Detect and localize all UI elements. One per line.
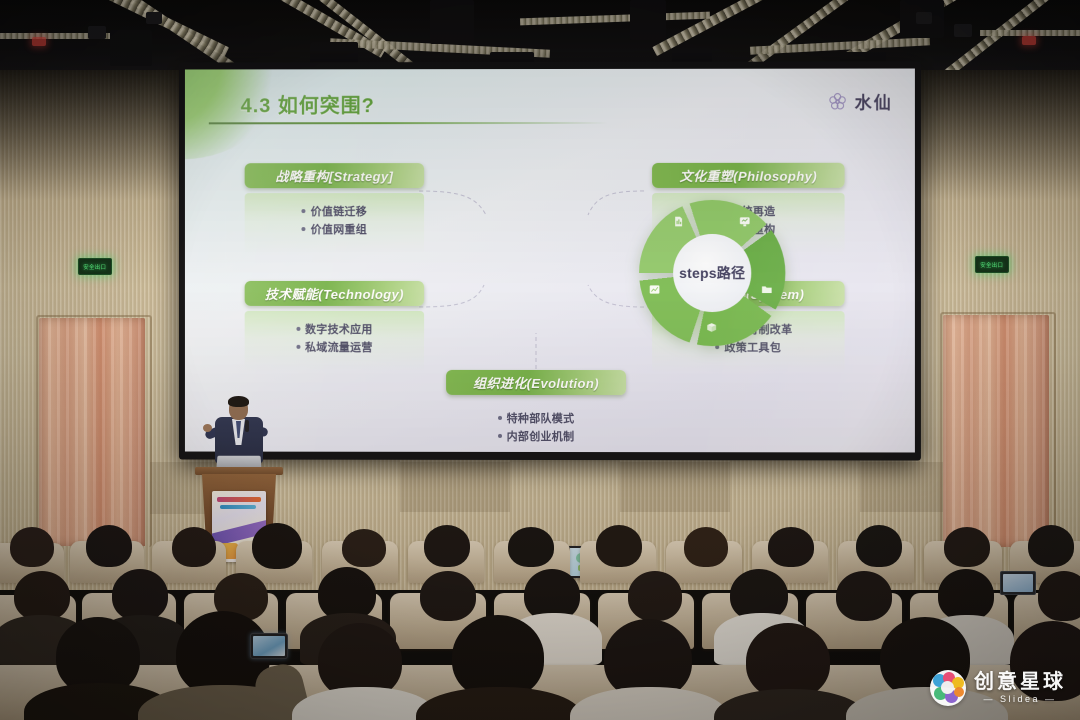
block-label-evolution[interactable]: 组织进化(Evolution): [446, 370, 626, 395]
smartphone: [250, 633, 288, 659]
brand-logo: 水仙: [827, 89, 893, 114]
audience-laptop: [1000, 571, 1036, 595]
ceiling-light-red-right: [1022, 36, 1036, 45]
list-item: 数字技术应用: [245, 321, 424, 337]
bullet-text: 价值链迁移: [311, 203, 367, 219]
bullet-text: 价值网重组: [311, 221, 367, 237]
block-label-evolution-text: 组织进化(Evolution): [473, 373, 599, 392]
bullet-text: 特种部队模式: [507, 410, 575, 426]
block-label-technology[interactable]: 技术赋能(Technology): [245, 281, 424, 306]
growth-chart-icon: [649, 284, 660, 295]
box-icon: [706, 322, 717, 333]
slide-title: 4.3 如何突围?: [241, 89, 375, 118]
block-label-strategy[interactable]: 战略重构[Strategy]: [245, 163, 424, 188]
list-item: 特种部队模式: [446, 410, 626, 426]
flower-icon: [827, 90, 849, 112]
curtain-left: [39, 318, 145, 546]
block-label-philosophy[interactable]: 文化重塑(Philosophy): [652, 163, 845, 188]
bullet-text: 内部创业机制: [507, 428, 575, 444]
block-label-philosophy-text: 文化重塑(Philosophy): [680, 166, 817, 185]
list-item: 价值链迁移: [245, 203, 424, 219]
list-item: 价值网重组: [245, 221, 424, 237]
exit-sign-label-right: 安全出口: [980, 260, 1003, 268]
document-chart-icon: [673, 216, 684, 227]
speaker-left-hand: [203, 424, 212, 432]
brand-logo-text: 水仙: [855, 89, 893, 114]
slide-title-underline: [209, 122, 608, 124]
folder-icon: [761, 284, 772, 295]
microphone-icon: [245, 420, 249, 432]
block-panel-strategy: 价值链迁移 价值网重组: [245, 193, 424, 255]
block-label-technology-text: 技术赋能(Technology): [265, 284, 404, 303]
audience-area: [0, 515, 1080, 720]
watermark: 创意星球 — Slidea —: [930, 670, 1066, 706]
projection-screen: 4.3 如何突围? 水仙: [179, 61, 921, 460]
donut-center-label: steps路径: [673, 234, 751, 312]
exit-sign-label-left: 安全出口: [83, 262, 106, 270]
block-panel-technology: 数字技术应用 私域流量运营: [245, 311, 424, 373]
steps-donut-chart: steps路径: [639, 200, 785, 346]
list-item: 内部创业机制: [446, 428, 626, 444]
curtain-right: [943, 315, 1049, 547]
exit-sign-right: 安全出口: [975, 256, 1009, 273]
list-item: 政策工具包: [652, 339, 845, 355]
exit-sign-left: 安全出口: [78, 258, 112, 275]
block-panel-evolution: 特种部队模式 内部创业机制: [446, 400, 626, 452]
watermark-subtitle: — Slidea —: [974, 695, 1066, 704]
block-label-strategy-text: 战略重构[Strategy]: [275, 166, 393, 185]
ceiling-light-red-left: [32, 37, 46, 46]
watermark-logo-icon: [930, 670, 966, 706]
slide-content: 4.3 如何突围? 水仙: [185, 69, 915, 453]
podium-top: [195, 467, 283, 475]
speaker-hair: [228, 396, 249, 407]
monitor-icon: [739, 216, 750, 227]
bullet-text: 私域流量运营: [305, 339, 373, 355]
list-item: 私域流量运营: [245, 339, 424, 355]
watermark-title: 创意星球: [974, 672, 1066, 692]
donut-center-text: steps路径: [679, 263, 745, 283]
bullet-text: 数字技术应用: [305, 321, 373, 337]
photo-scene: 安全出口 安全出口 4.3 如何突围? 水仙: [0, 0, 1080, 720]
